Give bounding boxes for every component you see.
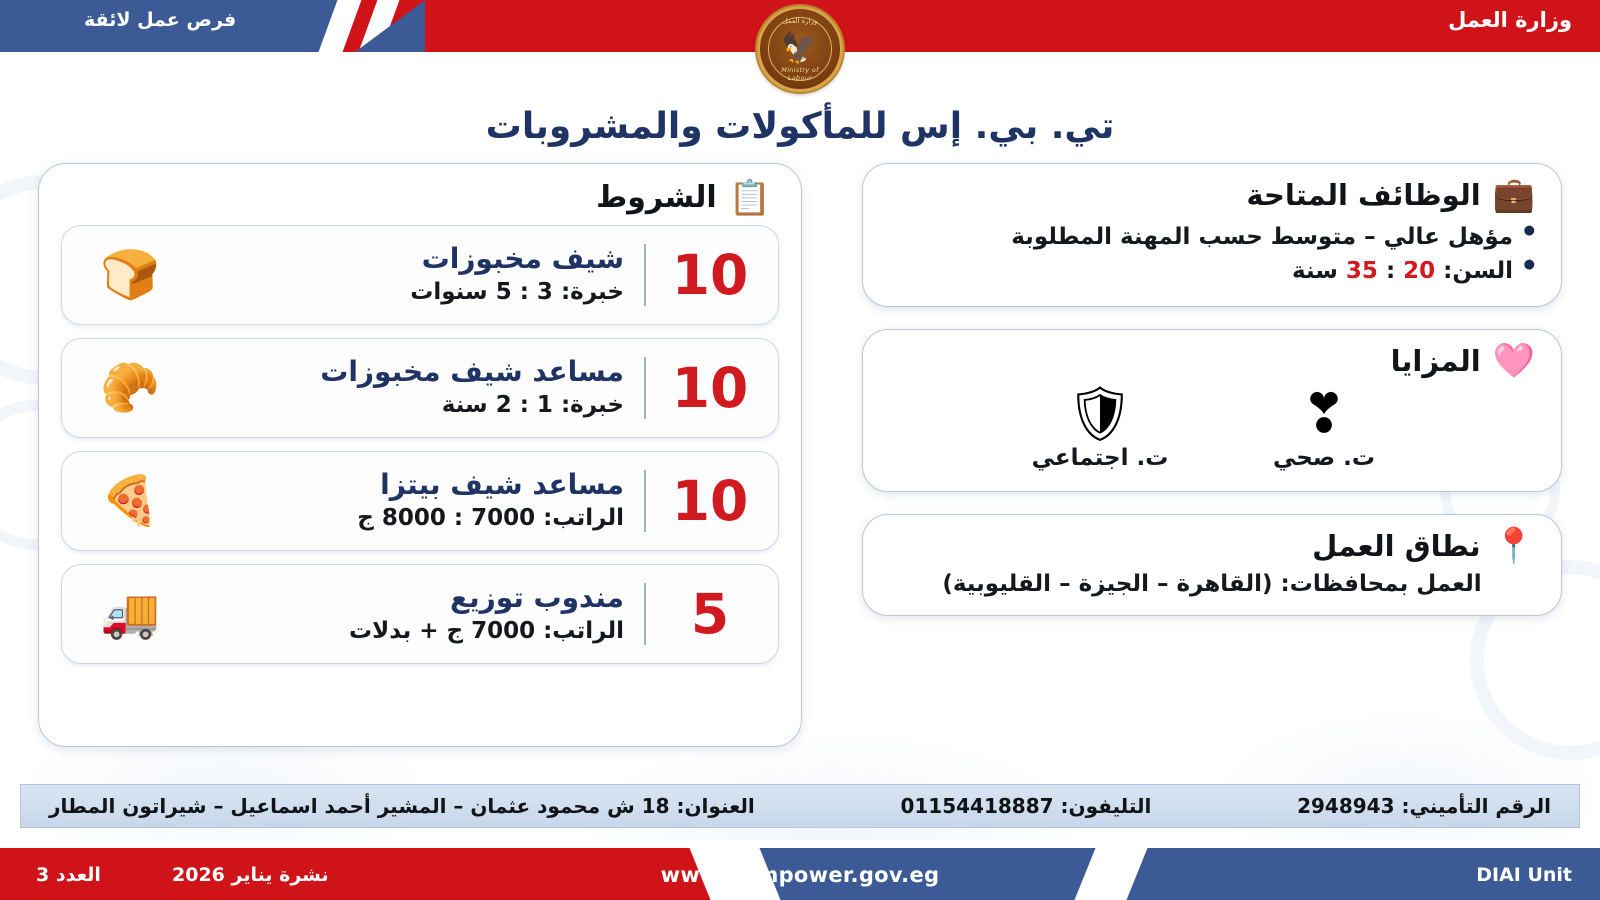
benefits-card-header: 🩷 المزايا — [889, 344, 1535, 378]
age-suffix: سنة — [1292, 258, 1346, 284]
rolling-pin-dough-icon: 🥐 — [76, 364, 184, 412]
heart-medical-icon: ❣ — [1249, 386, 1399, 443]
conditions-panel: 📋 الشروط 10 شيف مخبوزات خبرة: 3 : 5 سنوا… — [38, 163, 802, 747]
address: العنوان: 18 ش محمود عثمان – المشير أحمد … — [49, 794, 755, 818]
eagle-icon: 🦅 — [781, 34, 818, 64]
benefits-heading: المزايا — [1391, 344, 1481, 378]
ministry-label: وزارة العمل — [1448, 8, 1572, 32]
row-divider — [644, 583, 646, 645]
footer-bulletin-label: نشرة يناير 2026 — [172, 864, 329, 886]
clipboard-checklist-icon: 📋 — [729, 181, 771, 215]
benefit-item-social: 🛡 ت. اجتماعي — [1025, 386, 1175, 471]
pizza-icon: 🍕 — [76, 477, 184, 525]
chef-hat-bread-icon: 🍞 — [76, 251, 184, 299]
job-list: 10 شيف مخبوزات خبرة: 3 : 5 سنوات 🍞 10 مس… — [61, 225, 779, 664]
conditions-panel-header: 📋 الشروط — [61, 176, 779, 221]
row-divider — [644, 357, 646, 419]
footer-unit-label: DIAI Unit — [1476, 864, 1572, 886]
vacancies-bullet-list: مؤهل عالي – متوسط حسب المهنة المطلوبة ال… — [889, 220, 1535, 288]
benefits-card: 🩷 المزايا ❣ ت. صحي 🛡 ت. اجتماعي — [862, 329, 1562, 492]
list-item: السن: 20 : 35 سنة — [889, 254, 1535, 288]
vacancies-heading: الوظائف المتاحة — [1246, 178, 1480, 212]
vacancies-card-header: 💼 الوظائف المتاحة — [889, 178, 1535, 212]
scope-heading: نطاق العمل — [1312, 529, 1481, 563]
footer: www.manpower.gov.eg DIAI Unit نشرة يناير… — [0, 848, 1600, 900]
job-detail: خبرة: 1 : 2 سنة — [184, 391, 624, 421]
job-count: 10 — [656, 248, 764, 303]
job-title: شيف مخبوزات — [184, 242, 624, 276]
list-item: مؤهل عالي – متوسط حسب المهنة المطلوبة — [889, 220, 1535, 254]
header-slogan: فرص عمل لائقة — [84, 9, 236, 31]
top-header: وزارة العمل فرص عمل لائقة وزارة العمل 🦅 … — [0, 0, 1600, 84]
content-area: 💼 الوظائف المتاحة مؤهل عالي – متوسط حسب … — [0, 147, 1600, 747]
row-divider — [644, 470, 646, 532]
heart-in-hands-icon: 🩷 — [1493, 344, 1535, 378]
job-detail: الراتب: 7000 : 8000 ج — [184, 504, 624, 534]
table-row: 10 مساعد شيف مخبوزات خبرة: 1 : 2 سنة 🥐 — [61, 338, 779, 438]
age-to: 35 — [1346, 258, 1378, 284]
shield-check-icon: 🛡 — [1025, 386, 1175, 443]
qualification-text: مؤهل عالي – متوسط حسب المهنة المطلوبة — [1011, 224, 1513, 250]
phone-number[interactable]: التليفون: 01154418887 — [900, 794, 1151, 818]
left-column: 📋 الشروط 10 شيف مخبوزات خبرة: 3 : 5 سنوا… — [38, 163, 802, 747]
age-from: 20 — [1403, 258, 1435, 284]
map-pin-icon: 📍 — [1493, 529, 1535, 563]
benefit-item-health: ❣ ت. صحي — [1249, 386, 1399, 471]
table-row: 10 مساعد شيف بيتزا الراتب: 7000 : 8000 ج… — [61, 451, 779, 551]
job-text-group: مساعد شيف بيتزا الراتب: 7000 : 8000 ج — [184, 468, 630, 533]
row-divider — [644, 244, 646, 306]
job-count: 5 — [656, 587, 764, 642]
delivery-truck-icon: 🚚 — [76, 590, 184, 638]
people-briefcase-icon: 💼 — [1493, 178, 1535, 212]
benefit-label: ت. اجتماعي — [1025, 445, 1175, 471]
job-text-group: مساعد شيف مخبوزات خبرة: 1 : 2 سنة — [184, 355, 630, 420]
job-title: مندوب توزيع — [184, 581, 624, 615]
emblem-top-text: وزارة العمل — [769, 17, 831, 25]
job-count: 10 — [656, 361, 764, 416]
benefits-list: ❣ ت. صحي 🛡 ت. اجتماعي — [889, 386, 1535, 473]
benefit-label: ت. صحي — [1249, 445, 1399, 471]
table-row: 5 مندوب توزيع الراتب: 7000 ج + بدلات 🚚 — [61, 564, 779, 664]
emblem-bottom-text: Ministry of Labour — [769, 66, 831, 82]
footer-issue-label: العدد 3 — [36, 864, 101, 886]
job-count: 10 — [656, 474, 764, 529]
conditions-heading: الشروط — [596, 180, 717, 215]
scope-text: العمل بمحافظات: (القاهرة – الجيزة – القل… — [889, 571, 1535, 597]
age-separator: : — [1378, 258, 1403, 284]
ministry-emblem-icon: وزارة العمل 🦅 Ministry of Labour — [757, 6, 843, 92]
job-text-group: شيف مخبوزات خبرة: 3 : 5 سنوات — [184, 242, 630, 307]
job-title: مساعد شيف بيتزا — [184, 468, 624, 502]
job-detail: الراتب: 7000 ج + بدلات — [184, 617, 624, 647]
job-text-group: مندوب توزيع الراتب: 7000 ج + بدلات — [184, 581, 630, 646]
right-column: 💼 الوظائف المتاحة مؤهل عالي – متوسط حسب … — [862, 163, 1562, 747]
page-title: تي. بي. إس للمأكولات والمشروبات — [0, 106, 1600, 147]
scope-card-header: 📍 نطاق العمل — [889, 529, 1535, 563]
emblem-inner-ring: وزارة العمل 🦅 Ministry of Labour — [768, 17, 832, 81]
insurance-number: الرقم التأميني: 2948943 — [1297, 794, 1551, 818]
job-detail: خبرة: 3 : 5 سنوات — [184, 278, 624, 308]
table-row: 10 شيف مخبوزات خبرة: 3 : 5 سنوات 🍞 — [61, 225, 779, 325]
age-prefix: السن: — [1435, 258, 1513, 284]
scope-card: 📍 نطاق العمل العمل بمحافظات: (القاهرة – … — [862, 514, 1562, 616]
vacancies-card: 💼 الوظائف المتاحة مؤهل عالي – متوسط حسب … — [862, 163, 1562, 307]
job-title: مساعد شيف مخبوزات — [184, 355, 624, 389]
contact-bar: الرقم التأميني: 2948943 التليفون: 011544… — [20, 784, 1580, 828]
header-red-band — [365, 0, 1600, 52]
